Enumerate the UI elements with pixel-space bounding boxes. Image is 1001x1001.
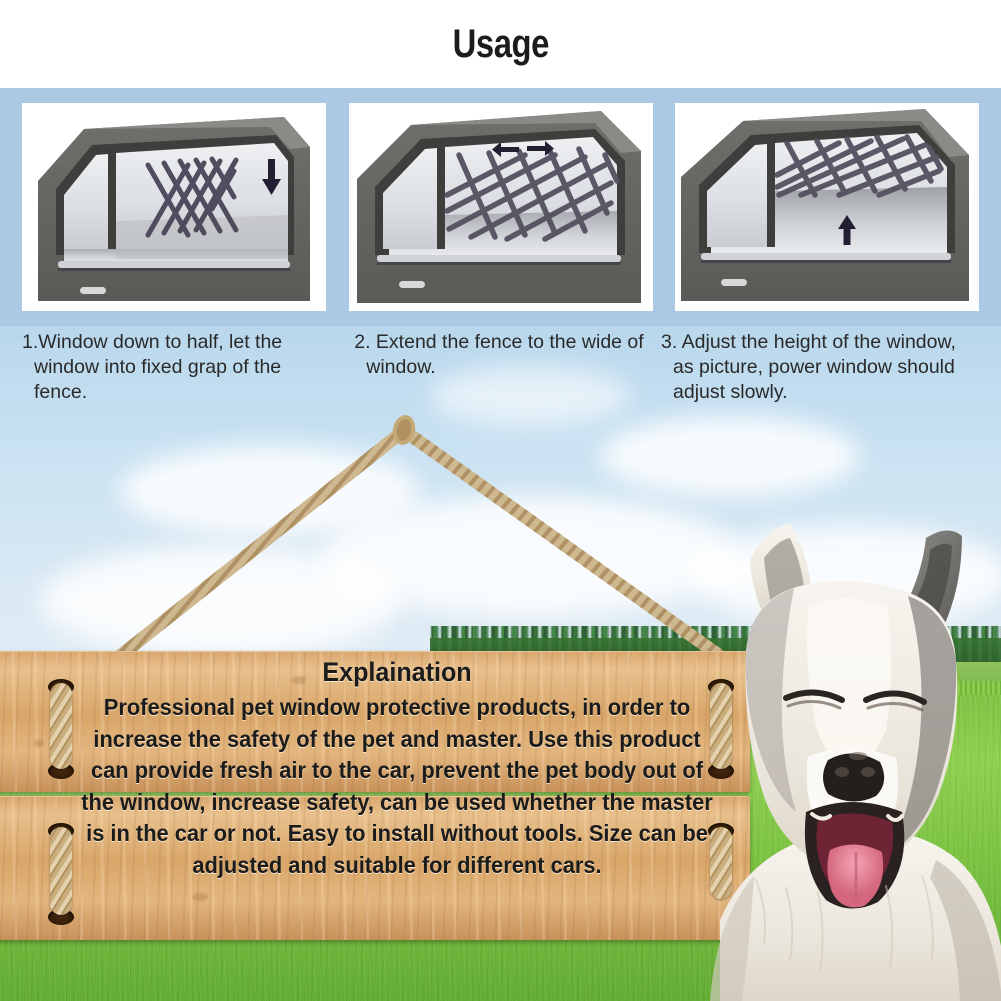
step-caption-3: 3. Adjust the height of the window, as p… [661,330,979,440]
car-window-fence-extend-arrows-icon [349,103,653,311]
cloud [40,546,400,656]
sign-text-block: Explaination Professional pet window pro… [52,657,742,881]
title-bar: Usage [0,0,1001,88]
wooden-sign: Explaination Professional pet window pro… [0,651,750,939]
step-caption-1: 1.Window down to half, let the window in… [22,330,336,440]
wood-knot [34,740,44,747]
usage-panel-3 [675,103,979,311]
dog-photo [690,520,1001,1001]
step-caption-2: 2. Extend the fence to the wide of windo… [354,330,649,440]
explanation-body: Professional pet window protective produ… [76,692,718,881]
car-window-fence-up-arrow-icon [675,103,979,311]
usage-panel-2 [349,103,653,311]
explanation-heading: Explaination [76,657,718,688]
product-infographic: Usage [0,0,1001,1001]
usage-panels [0,88,1001,326]
car-window-fence-down-arrow-icon [22,103,326,311]
page-title: Usage [452,22,548,67]
husky-dog-icon [690,520,1001,1001]
wood-knot [192,893,208,901]
usage-panel-1 [22,103,326,311]
step-captions: 1.Window down to half, let the window in… [0,330,1001,440]
